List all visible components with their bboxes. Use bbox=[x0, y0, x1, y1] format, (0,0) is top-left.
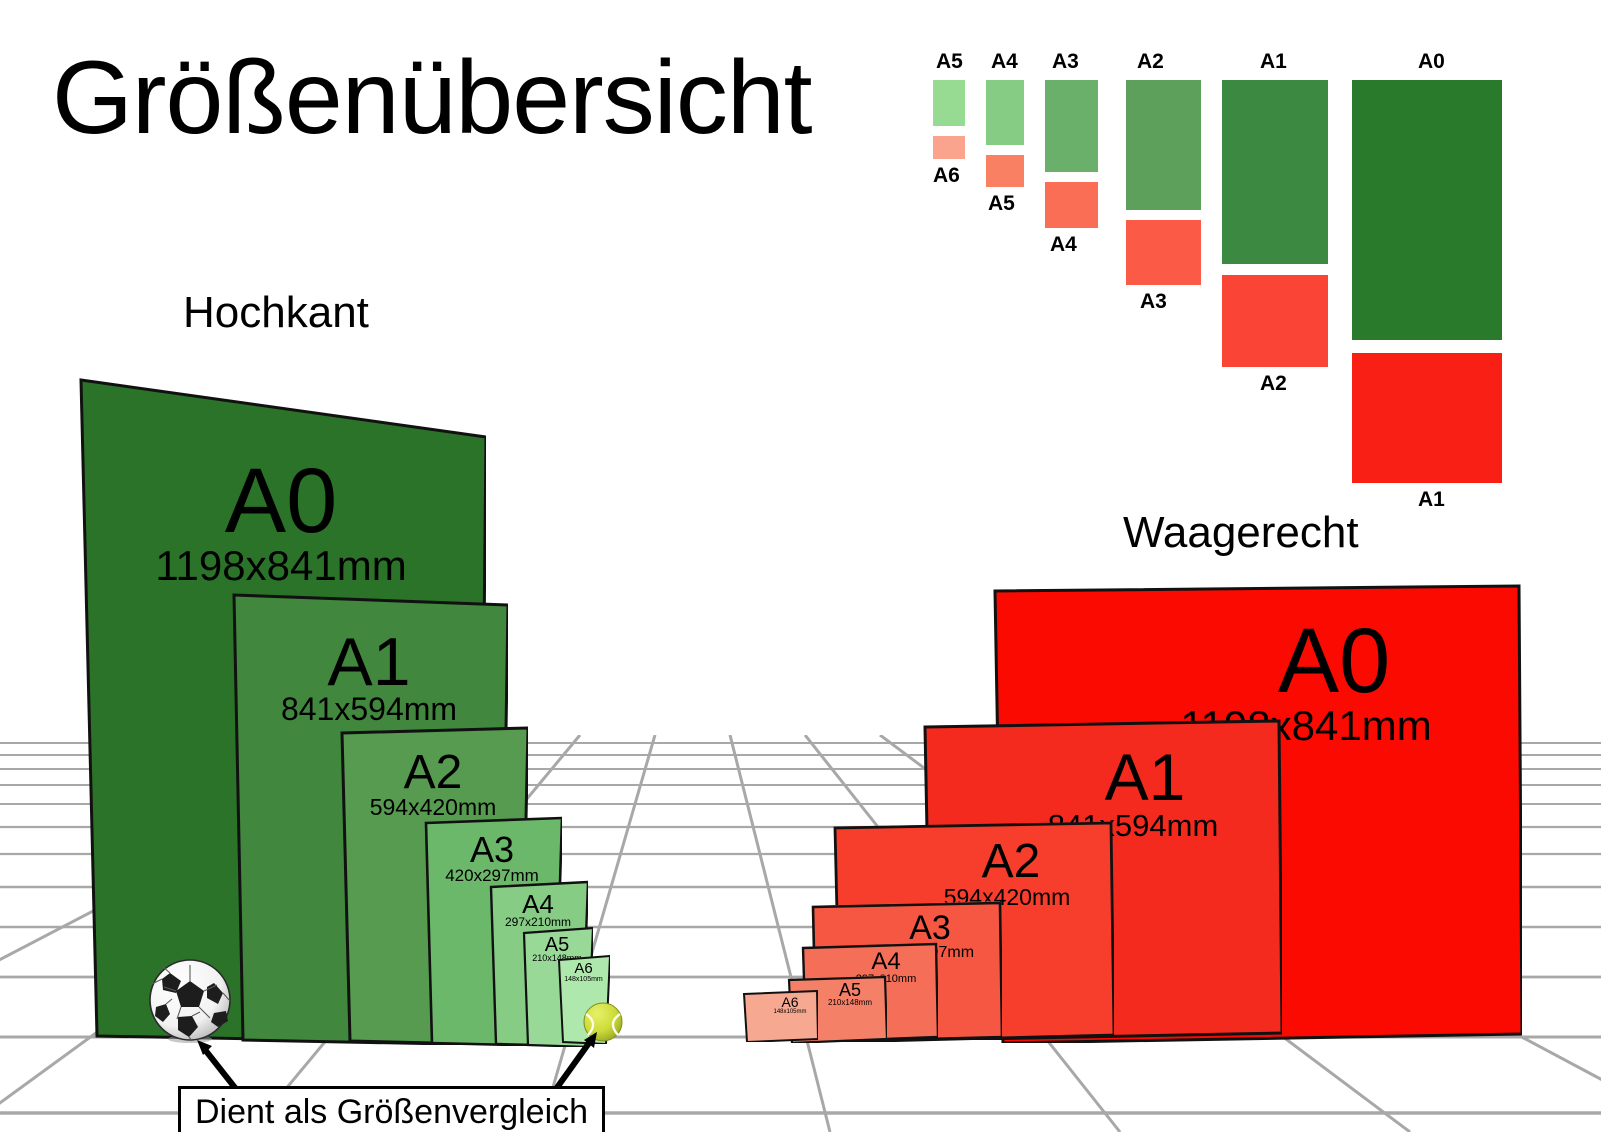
chart-green-bar-a5 bbox=[933, 80, 965, 126]
sheet-label-dim: 148x105mm bbox=[762, 1009, 818, 1015]
chart-red-bar-a6 bbox=[933, 136, 965, 159]
chart-top-label-2: A3 bbox=[1052, 50, 1079, 74]
chart-bottom-label-5: A1 bbox=[1418, 488, 1445, 512]
chart-bottom-label-3: A3 bbox=[1140, 290, 1167, 314]
chart-green-bar-a1 bbox=[1222, 80, 1328, 264]
sheet-label-dim: 210x148mm bbox=[813, 999, 887, 1007]
chart-bottom-label-0: A6 bbox=[933, 164, 960, 188]
sheet-label-name: A3 bbox=[870, 911, 990, 945]
section-caption-landscape: Waagerecht bbox=[1123, 508, 1359, 558]
callout-text: Dient als Größenvergleich bbox=[195, 1093, 588, 1131]
sheet-label-name: A4 bbox=[488, 891, 588, 917]
infographic-canvas: Größenübersicht bbox=[0, 0, 1601, 1132]
chart-top-label-1: A4 bbox=[991, 50, 1018, 74]
sheet-label-name: A1 bbox=[230, 628, 508, 696]
chart-bottom-label-1: A5 bbox=[988, 192, 1015, 216]
chart-top-label-3: A2 bbox=[1137, 50, 1164, 74]
sheet-label-dim: 1198x841mm bbox=[76, 545, 486, 587]
section-caption-portrait: Hochkant bbox=[183, 288, 369, 338]
size-comparison-bar-chart: A5 A6 A4 A5 A3 A4 A2 A3 A1 A2 A0 A1 bbox=[900, 30, 1600, 490]
sheet-label-dim: 297x210mm bbox=[488, 916, 588, 928]
callout-box: Dient als Größenvergleich bbox=[178, 1086, 605, 1132]
sheet-label-name: A5 bbox=[521, 935, 593, 955]
sheet-label-dim: 148x105mm bbox=[557, 976, 610, 983]
chart-red-bar-a3 bbox=[1126, 220, 1201, 285]
chart-red-bar-a1 bbox=[1352, 353, 1502, 483]
sheet-label-name: A4 bbox=[844, 950, 928, 974]
sheet-label-dim: 420x297mm bbox=[422, 867, 562, 884]
page-title: Größenübersicht bbox=[52, 44, 812, 153]
sheet-label-name: A0 bbox=[76, 455, 486, 547]
chart-red-bar-a4 bbox=[1045, 182, 1098, 228]
chart-top-label-5: A0 bbox=[1418, 50, 1445, 74]
sheet-label-name: A0 bbox=[1174, 615, 1494, 707]
chart-green-bar-a2 bbox=[1126, 80, 1201, 210]
sheet-landscape-a6[interactable]: A6 148x105mm bbox=[742, 990, 818, 1042]
sheet-label-name: A5 bbox=[821, 981, 879, 999]
soccer-ball bbox=[148, 959, 232, 1043]
sheet-label-name: A6 bbox=[768, 995, 812, 1009]
chart-top-label-4: A1 bbox=[1260, 50, 1287, 74]
sheet-label-dim: 594x420mm bbox=[338, 796, 528, 819]
sheet-label-dim: 841x594mm bbox=[230, 693, 508, 725]
sheet-label-name: A2 bbox=[926, 838, 1096, 886]
chart-red-bar-a5 bbox=[986, 155, 1024, 187]
chart-green-bar-a4 bbox=[986, 80, 1024, 145]
sheet-label-name: A1 bbox=[1030, 744, 1260, 810]
chart-bottom-label-4: A2 bbox=[1260, 372, 1287, 396]
chart-bottom-label-2: A4 bbox=[1050, 233, 1077, 257]
sheet-label-name: A3 bbox=[422, 832, 562, 868]
chart-green-bar-a3 bbox=[1045, 80, 1098, 172]
sheet-label-name: A2 bbox=[338, 749, 528, 797]
sheet-label-name: A6 bbox=[557, 961, 610, 976]
chart-top-label-0: A5 bbox=[936, 50, 963, 74]
chart-red-bar-a2 bbox=[1222, 275, 1328, 367]
chart-green-bar-a0 bbox=[1352, 80, 1502, 340]
tennis-ball bbox=[583, 1002, 623, 1042]
